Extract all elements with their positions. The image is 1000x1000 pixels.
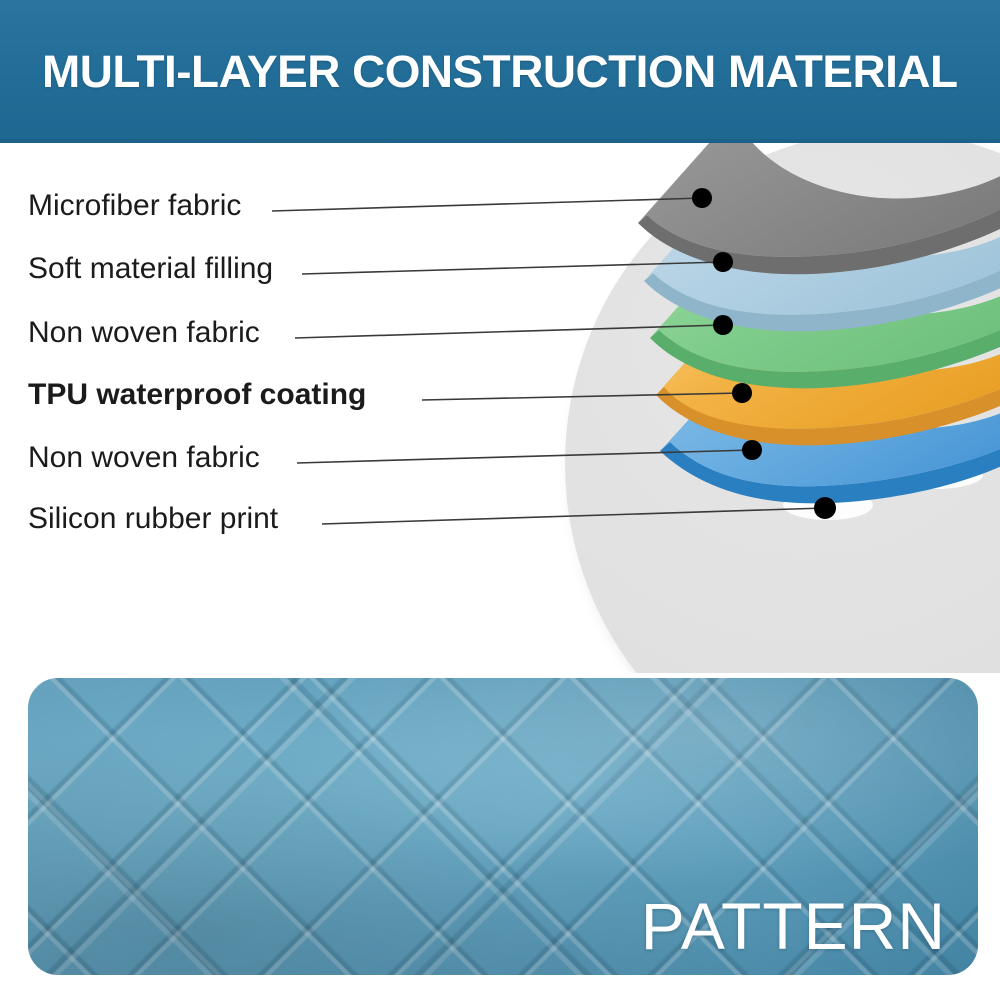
layer-diagram: Microfiber fabric Soft material filling …: [0, 143, 1000, 673]
leader-line-non-woven-top: [295, 315, 733, 338]
leader-dot-silicon-print: [814, 497, 836, 519]
leader-dot-non-woven-top: [713, 315, 733, 335]
pattern-caption: PATTERN: [641, 893, 946, 959]
layer-label-non-woven-top: Non woven fabric: [28, 318, 260, 348]
leader-dot-microfiber: [692, 188, 712, 208]
layer-label-soft-filling: Soft material filling: [28, 254, 273, 284]
layer-label-microfiber: Microfiber fabric: [28, 191, 241, 221]
layer-label-non-woven-bottom: Non woven fabric: [28, 443, 260, 473]
pattern-section: PATTERN: [0, 673, 1000, 1000]
leader-dot-non-woven-bottom: [742, 440, 762, 460]
leader-line-non-woven-bottom: [297, 440, 762, 463]
leader-dot-soft-filling: [713, 252, 733, 272]
header-banner: MULTI-LAYER CONSTRUCTION MATERIAL: [0, 0, 1000, 143]
page-title: MULTI-LAYER CONSTRUCTION MATERIAL: [42, 46, 958, 98]
leader-line-soft-filling: [302, 252, 733, 274]
leader-line-microfiber: [272, 188, 712, 211]
leader-line-silicon-print: [322, 497, 836, 524]
layer-label-silicon-print: Silicon rubber print: [28, 504, 278, 534]
leader-dot-tpu: [732, 383, 752, 403]
quilted-fabric-swatch: PATTERN: [28, 678, 978, 975]
layer-label-tpu: TPU waterproof coating: [28, 380, 366, 410]
leader-line-tpu: [422, 383, 752, 403]
